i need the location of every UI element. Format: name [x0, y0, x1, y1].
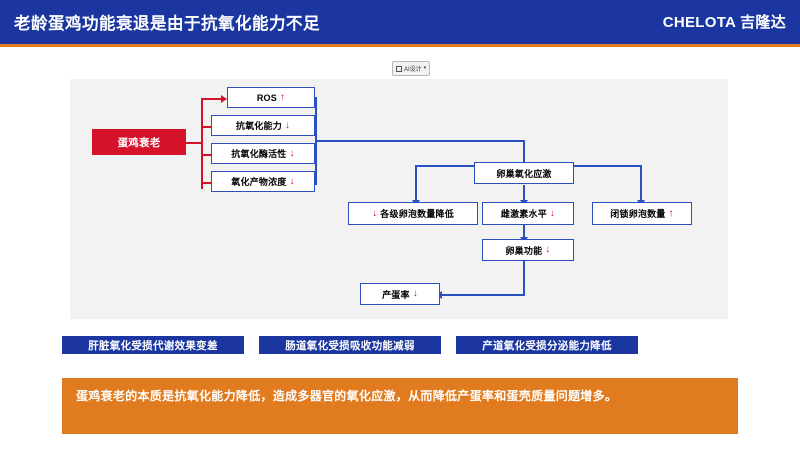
node-aging-label: 蛋鸡衰老	[118, 135, 161, 150]
node-ovary-oxidative-stress-label: 卵巢氧化应激	[496, 167, 551, 180]
node-egg-production-rate[interactable]: 产蛋率 ↓	[360, 283, 440, 305]
node-follicle-decrease-label: 各级卵泡数量降低	[380, 207, 454, 220]
connector-aging-vertical	[201, 99, 203, 189]
node-ovary-function[interactable]: 卵巢功能 ↓	[482, 239, 574, 261]
tag-intestine-label: 肠道氧化受损吸收功能减弱	[285, 338, 415, 353]
slide: 老龄蛋鸡功能衰退是由于抗氧化能力不足 CHELOTA 吉隆达 AI设计 ▾	[0, 0, 800, 455]
node-ros-label: ROS	[257, 93, 277, 103]
node-ovary-function-label: 卵巢功能	[505, 244, 542, 257]
node-antioxidant-capacity-label: 抗氧化能力	[236, 119, 282, 132]
arrow-down-icon: ↓	[550, 209, 555, 219]
arrow-down-icon: ↓	[413, 289, 418, 299]
brand-logo: CHELOTA 吉隆达	[663, 11, 786, 32]
arrow-down-icon: ↓	[290, 177, 295, 187]
node-oxidation-product-label: 氧化产物浓度	[231, 175, 286, 188]
arrow-down-icon: ↓	[372, 209, 377, 219]
node-aging[interactable]: 蛋鸡衰老	[92, 129, 186, 155]
node-oxidation-product[interactable]: 氧化产物浓度 ↓	[211, 171, 315, 192]
tag-liver: 肝脏氧化受损代谢效果变差	[62, 336, 244, 354]
diagram-panel: 蛋鸡衰老 ROS ↑ 抗氧化能力 ↓ 抗氧化酶活性 ↓ 氧化产物浓度 ↓ 卵巢氧…	[70, 79, 728, 319]
node-atretic-follicles[interactable]: 闭锁卵泡数量 ↑	[592, 202, 692, 225]
conclusion-text: 蛋鸡衰老的本质是抗氧化能力降低，造成多器官的氧化应激，从而降低产蛋率和蛋壳质量问…	[76, 389, 617, 403]
node-ros[interactable]: ROS ↑	[227, 87, 315, 108]
node-estrogen-level-label: 雌激素水平	[501, 207, 547, 220]
tag-oviduct-label: 产道氧化受损分泌能力降低	[482, 338, 612, 353]
node-antioxidant-enzyme[interactable]: 抗氧化酶活性 ↓	[211, 143, 315, 164]
ai-design-label: AI设计	[404, 64, 422, 73]
connector-ovaryfunc-down	[523, 261, 525, 296]
tag-liver-label: 肝脏氧化受损代谢效果变差	[88, 338, 218, 353]
connector-to-ovary-stress-v	[523, 140, 525, 164]
node-atretic-follicles-label: 闭锁卵泡数量	[610, 207, 665, 220]
connector-ovaryfunc-left	[442, 294, 525, 296]
page-title: 老龄蛋鸡功能衰退是由于抗氧化能力不足	[14, 10, 320, 34]
connector-to-ovary-stress-h	[315, 140, 525, 142]
arrow-up-icon: ↑	[669, 209, 674, 219]
node-egg-production-rate-label: 产蛋率	[382, 288, 410, 301]
connector-stress-left-v	[415, 165, 417, 203]
arrow-down-icon: ↓	[285, 121, 290, 131]
tag-intestine: 肠道氧化受损吸收功能减弱	[259, 336, 441, 354]
conclusion-box: 蛋鸡衰老的本质是抗氧化能力降低，造成多器官的氧化应激，从而降低产蛋率和蛋壳质量问…	[62, 378, 738, 434]
header-underline	[0, 44, 800, 47]
connector-aging-to-ros	[201, 98, 223, 100]
ai-design-toolbar[interactable]: AI设计 ▾	[392, 61, 430, 76]
node-antioxidant-capacity[interactable]: 抗氧化能力 ↓	[211, 115, 315, 136]
arrow-down-icon: ↓	[290, 149, 295, 159]
arrow-up-icon: ↑	[280, 93, 285, 103]
tag-oviduct: 产道氧化受损分泌能力降低	[456, 336, 638, 354]
node-antioxidant-enzyme-label: 抗氧化酶活性	[231, 147, 286, 160]
chevron-down-icon[interactable]: ▾	[424, 66, 427, 71]
connector-stress-right-v	[640, 165, 642, 203]
node-ovary-oxidative-stress[interactable]: 卵巢氧化应激	[474, 162, 574, 184]
node-estrogen-level[interactable]: 雌激素水平 ↓	[482, 202, 574, 225]
node-follicle-decrease[interactable]: ↓ 各级卵泡数量降低	[348, 202, 478, 225]
ai-design-icon	[396, 66, 402, 72]
arrow-down-icon: ↓	[545, 245, 550, 255]
